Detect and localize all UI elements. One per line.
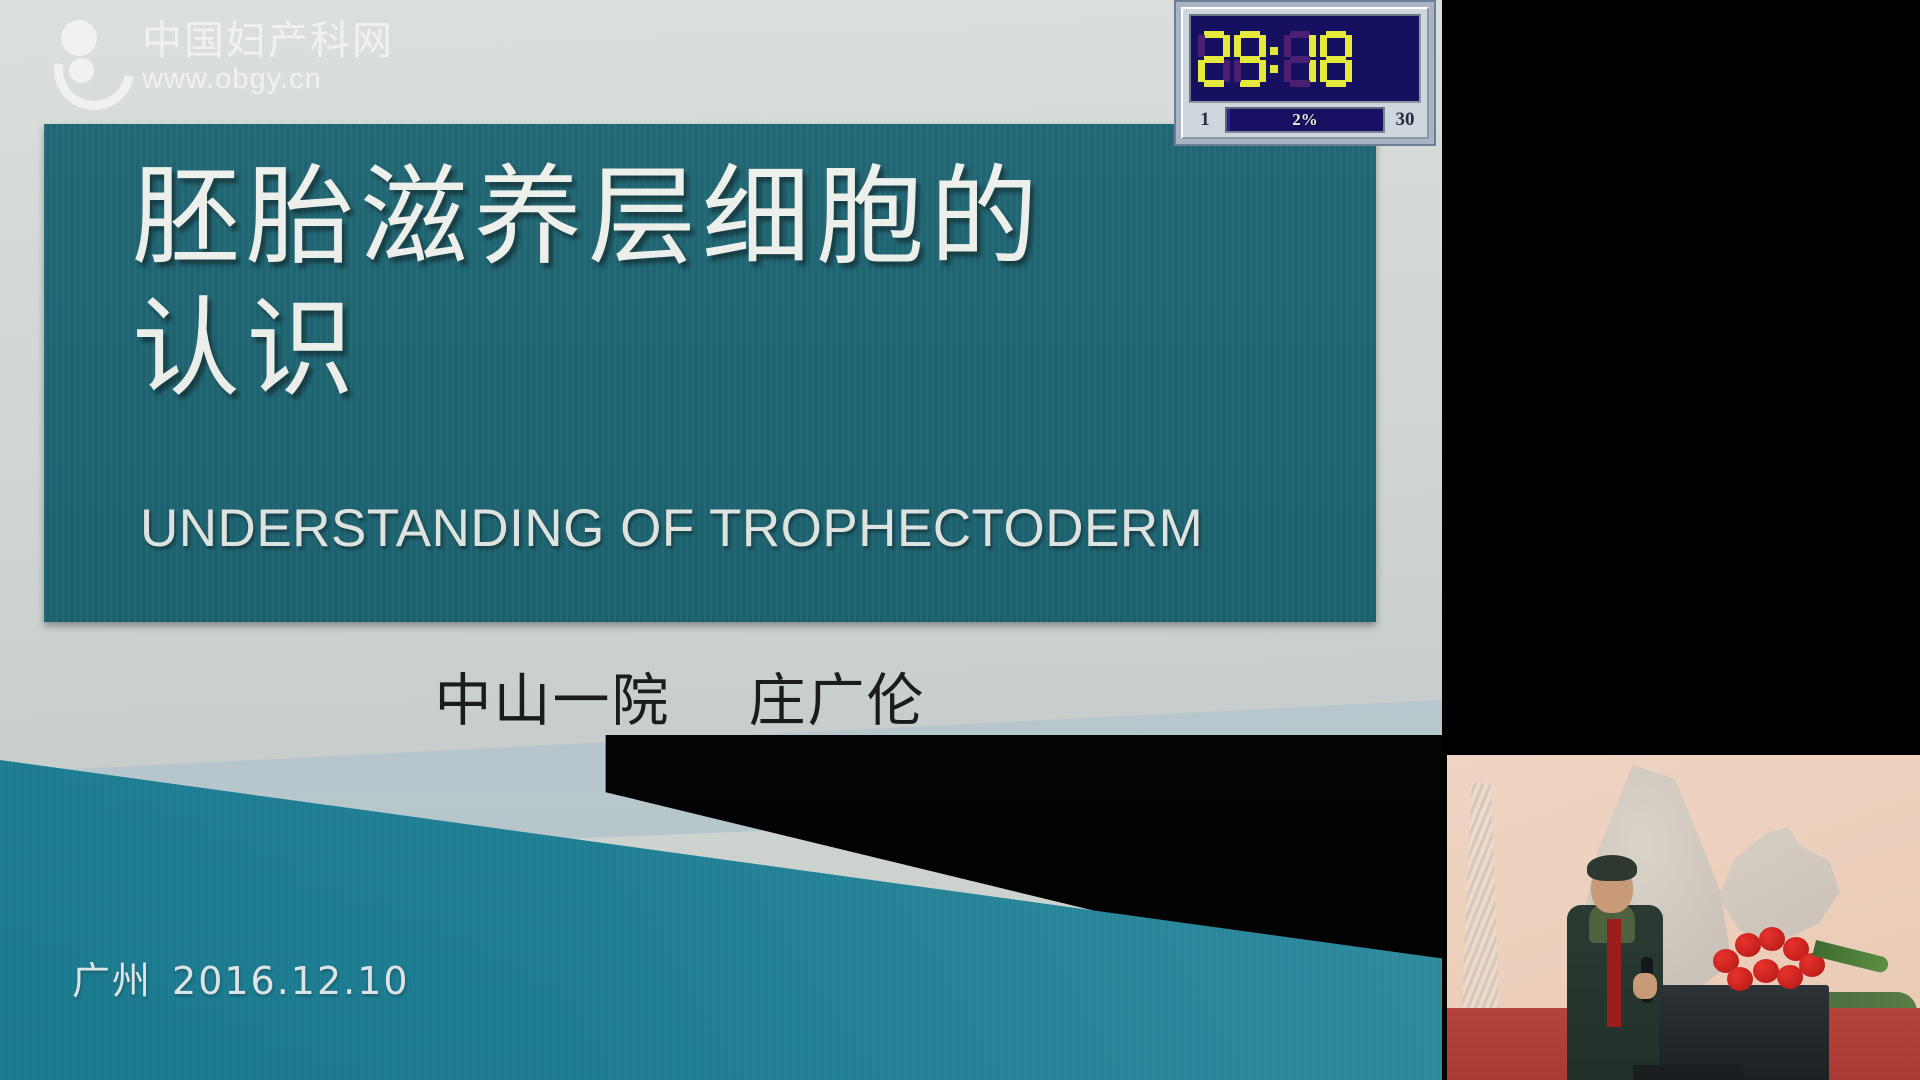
logo-lower-dot-shape [69, 58, 94, 83]
presenter-line: 中山一院庄广伦 [0, 655, 1360, 737]
slide-title-english: UNDERSTANDING OF TROPHECTODERM [140, 498, 1203, 559]
video-scene [1447, 755, 1920, 1080]
site-logo-text: 中国妇产科网 www.obgy.cn [142, 21, 394, 94]
timer-lcd-display [1189, 14, 1421, 103]
slide-title-chinese: 胚胎滋养层细胞的 认识 [132, 152, 1332, 416]
event-date: 2016.12.10 [172, 959, 410, 1003]
video-letterbox [1447, 735, 1920, 755]
timer-bezel: 1 2% 30 [1181, 7, 1429, 139]
flower-bouquet [1709, 923, 1827, 995]
countdown-timer-widget[interactable]: 1 2% 30 [1174, 0, 1436, 146]
timer-digit-3 [1283, 31, 1317, 87]
slide-progress-label: 2% [1292, 110, 1318, 130]
slide-progress-bar[interactable]: 2% [1225, 107, 1385, 133]
site-url: www.obgy.cn [142, 65, 394, 94]
speaker-hand [1633, 973, 1657, 999]
screen-root: 中国妇产科网 www.obgy.cn 胚胎滋养层细胞的 认识 UNDERSTAN… [0, 0, 1920, 1080]
speaker-camera-feed[interactable] [1447, 735, 1920, 1080]
timer-digit-1 [1197, 31, 1231, 87]
obgy-logo-mark-icon [50, 18, 128, 96]
presenter-affiliation: 中山一院 [435, 668, 671, 734]
speaker-scarf [1607, 919, 1621, 1027]
timer-digit-2 [1233, 31, 1267, 87]
presentation-slide[interactable]: 中国妇产科网 www.obgy.cn 胚胎滋养层细胞的 认识 UNDERSTAN… [0, 0, 1442, 1080]
timer-colon-icon [1269, 31, 1281, 87]
speaker-hair [1587, 855, 1637, 881]
speaker-figure [1559, 853, 1669, 1080]
canton-tower-backdrop [1459, 783, 1507, 1033]
slide-title-panel: 胚胎滋养层细胞的 认识 UNDERSTANDING OF TROPHECTODE… [44, 124, 1376, 622]
timer-progress-row: 1 2% 30 [1189, 107, 1421, 133]
timer-digit-group [1197, 31, 1353, 87]
slide-progress-fill [1227, 109, 1230, 131]
page-current-label: 1 [1189, 107, 1221, 133]
site-logo: 中国妇产科网 www.obgy.cn [50, 18, 394, 96]
page-total-label: 30 [1389, 107, 1421, 133]
presenter-name: 庄广伦 [749, 668, 926, 734]
slide-footer: 广州2016.12.10 [72, 950, 410, 1005]
site-brand-name: 中国妇产科网 [142, 21, 394, 61]
event-city: 广州 [72, 959, 152, 1003]
podium-base [1633, 1065, 1743, 1080]
logo-upper-dot-shape [61, 20, 97, 56]
timer-digit-4 [1319, 31, 1353, 87]
